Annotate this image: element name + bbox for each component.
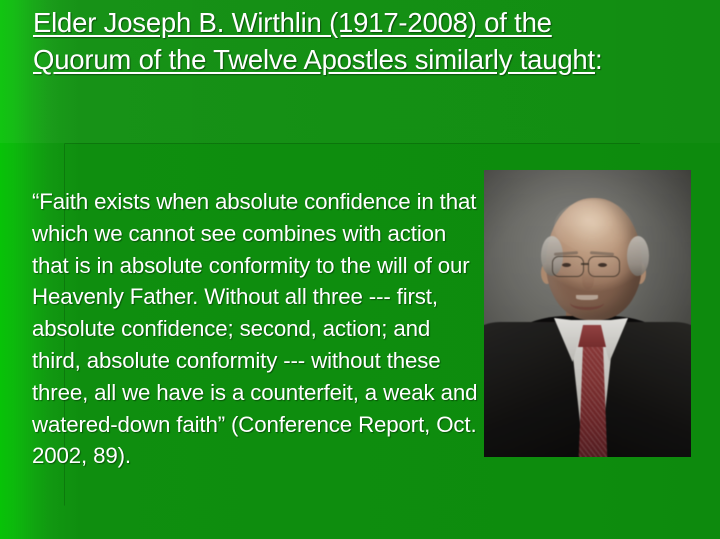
slide-title-line-2: Quorum of the Twelve Apostles similarly …: [33, 44, 595, 75]
quote-body-text: “Faith exists when absolute confidence i…: [32, 186, 484, 472]
presentation-slide: Elder Joseph B. Wirthlin (1917-2008) of …: [0, 0, 720, 539]
portrait-photo: [484, 170, 691, 457]
slide-title: Elder Joseph B. Wirthlin (1917-2008) of …: [33, 4, 693, 78]
slide-title-colon: :: [595, 44, 602, 75]
slide-title-line-1: Elder Joseph B. Wirthlin (1917-2008) of …: [33, 7, 552, 38]
photo-tone-overlay: [484, 170, 691, 457]
